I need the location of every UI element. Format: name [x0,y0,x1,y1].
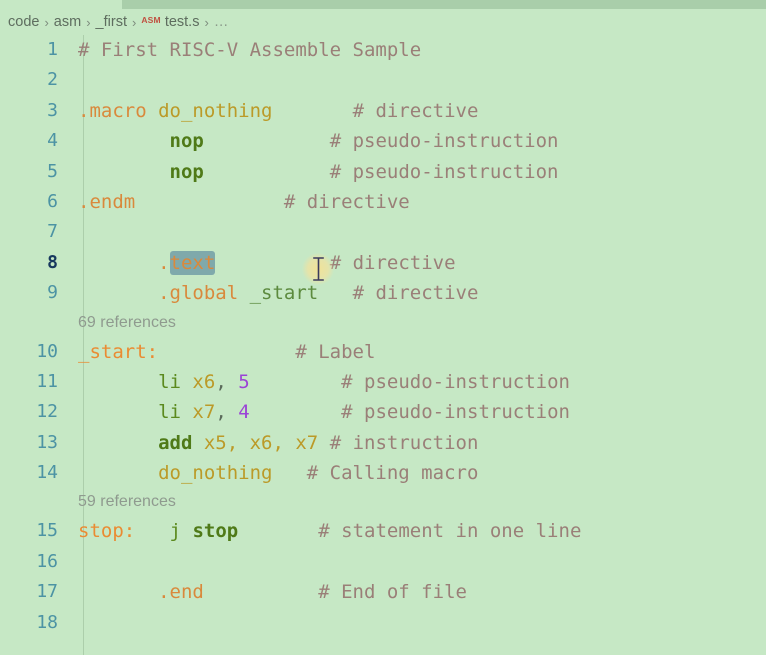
code-token [181,520,192,542]
code-token: 4 [238,401,249,423]
code-line-row[interactable]: 10_start: # Label [0,337,766,367]
code-token [204,130,330,152]
code-token: x6 [192,371,215,393]
breadcrumb-separator: › [44,15,48,30]
code-token: x7 [192,401,215,423]
code-token: # pseudo-instruction [341,371,570,393]
asm-file-icon: ASM [141,15,161,25]
code-token: li [158,371,181,393]
code-token: _start [250,282,319,304]
code-token [318,432,329,454]
code-token: # directive [330,252,456,274]
code-token: .global [158,282,238,304]
line-number: 17 [0,577,58,607]
code-token [78,252,158,274]
breadcrumb-separator: › [132,15,136,30]
line-number: 5 [0,157,58,187]
code-token: stop: [78,520,135,542]
code-token: , [215,371,238,393]
line-number: 9 [0,278,58,308]
code-token: li [158,401,181,423]
code-line-row[interactable]: 9 .global _start # directive [0,278,766,308]
code-token [135,520,169,542]
code-token [147,100,158,122]
code-token: # statement in one line [318,520,581,542]
code-token [78,462,158,484]
code-token: do_nothing [158,100,272,122]
code-token: add [158,432,192,454]
code-token: # directive [353,100,479,122]
tab-active-indicator[interactable] [122,0,766,9]
code-line-row[interactable]: 7 [0,217,766,247]
line-number: 18 [0,608,58,638]
code-token [250,371,342,393]
code-line-row[interactable]: 18 [0,608,766,638]
code-token [238,282,249,304]
code-token [78,161,170,183]
line-number: 13 [0,428,58,458]
code-line-row[interactable]: 8 .text # directive [0,248,766,278]
code-token [272,100,352,122]
line-number: 2 [0,65,58,95]
code-line-row[interactable]: 6.endm # directive [0,187,766,217]
code-token: .endm [78,191,135,213]
editor-window: code›asm›_first›ASMtest.s›… 1# First RIS… [0,0,766,655]
line-number: 3 [0,96,58,126]
line-number: 7 [0,217,58,247]
line-number: 6 [0,187,58,217]
code-token [78,130,170,152]
codelens-references[interactable]: 69 references [78,309,176,337]
code-lines-container: 1# First RISC-V Assemble Sample23.macro … [0,35,766,638]
code-token: , [215,401,238,423]
code-token: j [170,520,181,542]
line-number: 10 [0,337,58,367]
code-token: do_nothing [158,462,272,484]
codelens-references[interactable]: 59 references [78,488,176,516]
breadcrumb-item-code[interactable]: code [8,14,39,30]
code-line-row[interactable]: 11 li x6, 5 # pseudo-instruction [0,367,766,397]
code-token: .end [158,581,204,603]
code-token [78,401,158,423]
code-token [204,161,330,183]
code-token: x5, x6, x7 [204,432,318,454]
code-line-row[interactable]: 5 nop # pseudo-instruction [0,157,766,187]
code-token [318,282,352,304]
code-token [78,282,158,304]
code-token: # directive [284,191,410,213]
line-number: 14 [0,458,58,488]
line-content[interactable]: do_nothing # Calling macro [78,458,478,488]
line-content[interactable]: .global _start # directive [78,278,478,308]
line-number: 1 [0,35,58,65]
code-token: # First RISC-V Assemble Sample [78,39,421,61]
code-token [215,252,329,274]
line-content[interactable]: _start: # Label [78,337,375,367]
code-token: # directive [353,282,479,304]
line-content[interactable]: add x5, x6, x7 # instruction [78,428,478,458]
code-line-row[interactable]: 14 do_nothing # Calling macro [0,458,766,488]
code-line-row[interactable]: 3.macro do_nothing # directive [0,96,766,126]
code-token: # pseudo-instruction [330,130,559,152]
tab-strip [0,0,766,9]
code-token [238,520,318,542]
breadcrumb-item-_first[interactable]: _first [96,14,127,30]
breadcrumb-item-test.s[interactable]: test.s [165,14,200,30]
code-line-row[interactable]: 16 [0,547,766,577]
code-token [192,432,203,454]
code-token: # End of file [318,581,467,603]
code-line-row[interactable]: 4 nop # pseudo-instruction [0,126,766,156]
code-token [78,581,158,603]
code-editor[interactable]: 1# First RISC-V Assemble Sample23.macro … [0,35,766,655]
code-token [272,462,306,484]
code-line-row[interactable]: 15stop: j stop # statement in one line [0,516,766,546]
line-content[interactable]: .macro do_nothing # directive [78,96,478,126]
code-token: # pseudo-instruction [341,401,570,423]
code-token: # instruction [330,432,479,454]
breadcrumb-item-[interactable]: … [214,14,230,30]
code-token: nop [170,130,204,152]
codelens-row[interactable]: 69 references [0,309,766,337]
breadcrumb-item-asm[interactable]: asm [54,14,81,30]
code-token [204,581,318,603]
code-token [78,432,158,454]
code-token: 5 [238,371,249,393]
code-token: # Calling macro [307,462,479,484]
code-line-row[interactable]: 12 li x7, 4 # pseudo-instruction [0,397,766,427]
code-token [181,371,192,393]
selected-token: text [170,251,216,275]
code-line-row[interactable]: 13 add x5, x6, x7 # instruction [0,428,766,458]
breadcrumb[interactable]: code›asm›_first›ASMtest.s›… [0,9,766,35]
code-token [181,401,192,423]
line-content[interactable]: nop # pseudo-instruction [78,157,558,187]
line-content[interactable]: .endm # directive [78,187,410,217]
code-token: . [158,252,169,274]
code-token: # pseudo-instruction [330,161,559,183]
code-token: .macro [78,100,147,122]
code-token [250,401,342,423]
code-token: # Label [295,341,375,363]
code-token: nop [170,161,204,183]
line-number: 12 [0,397,58,427]
line-content[interactable]: li x7, 4 # pseudo-instruction [78,397,570,427]
line-number: 4 [0,126,58,156]
code-line-row[interactable]: 1# First RISC-V Assemble Sample [0,35,766,65]
line-content[interactable]: stop: j stop # statement in one line [78,516,581,546]
line-number: 15 [0,516,58,546]
line-content[interactable]: nop # pseudo-instruction [78,126,558,156]
code-line-row[interactable]: 2 [0,65,766,95]
code-token [158,341,295,363]
codelens-row[interactable]: 59 references [0,488,766,516]
line-content[interactable]: li x6, 5 # pseudo-instruction [78,367,570,397]
code-line-row[interactable]: 17 .end # End of file [0,577,766,607]
breadcrumb-separator: › [86,15,90,30]
code-token [135,191,284,213]
code-token: stop [192,520,238,542]
line-number: 11 [0,367,58,397]
line-number: 8 [0,248,58,278]
line-content[interactable]: # First RISC-V Assemble Sample [78,35,421,65]
breadcrumb-separator: › [204,15,208,30]
line-number: 16 [0,547,58,577]
line-content[interactable]: .text # directive [78,248,456,278]
line-content[interactable]: .end # End of file [78,577,467,607]
code-token [78,371,158,393]
code-token: _start: [78,341,158,363]
